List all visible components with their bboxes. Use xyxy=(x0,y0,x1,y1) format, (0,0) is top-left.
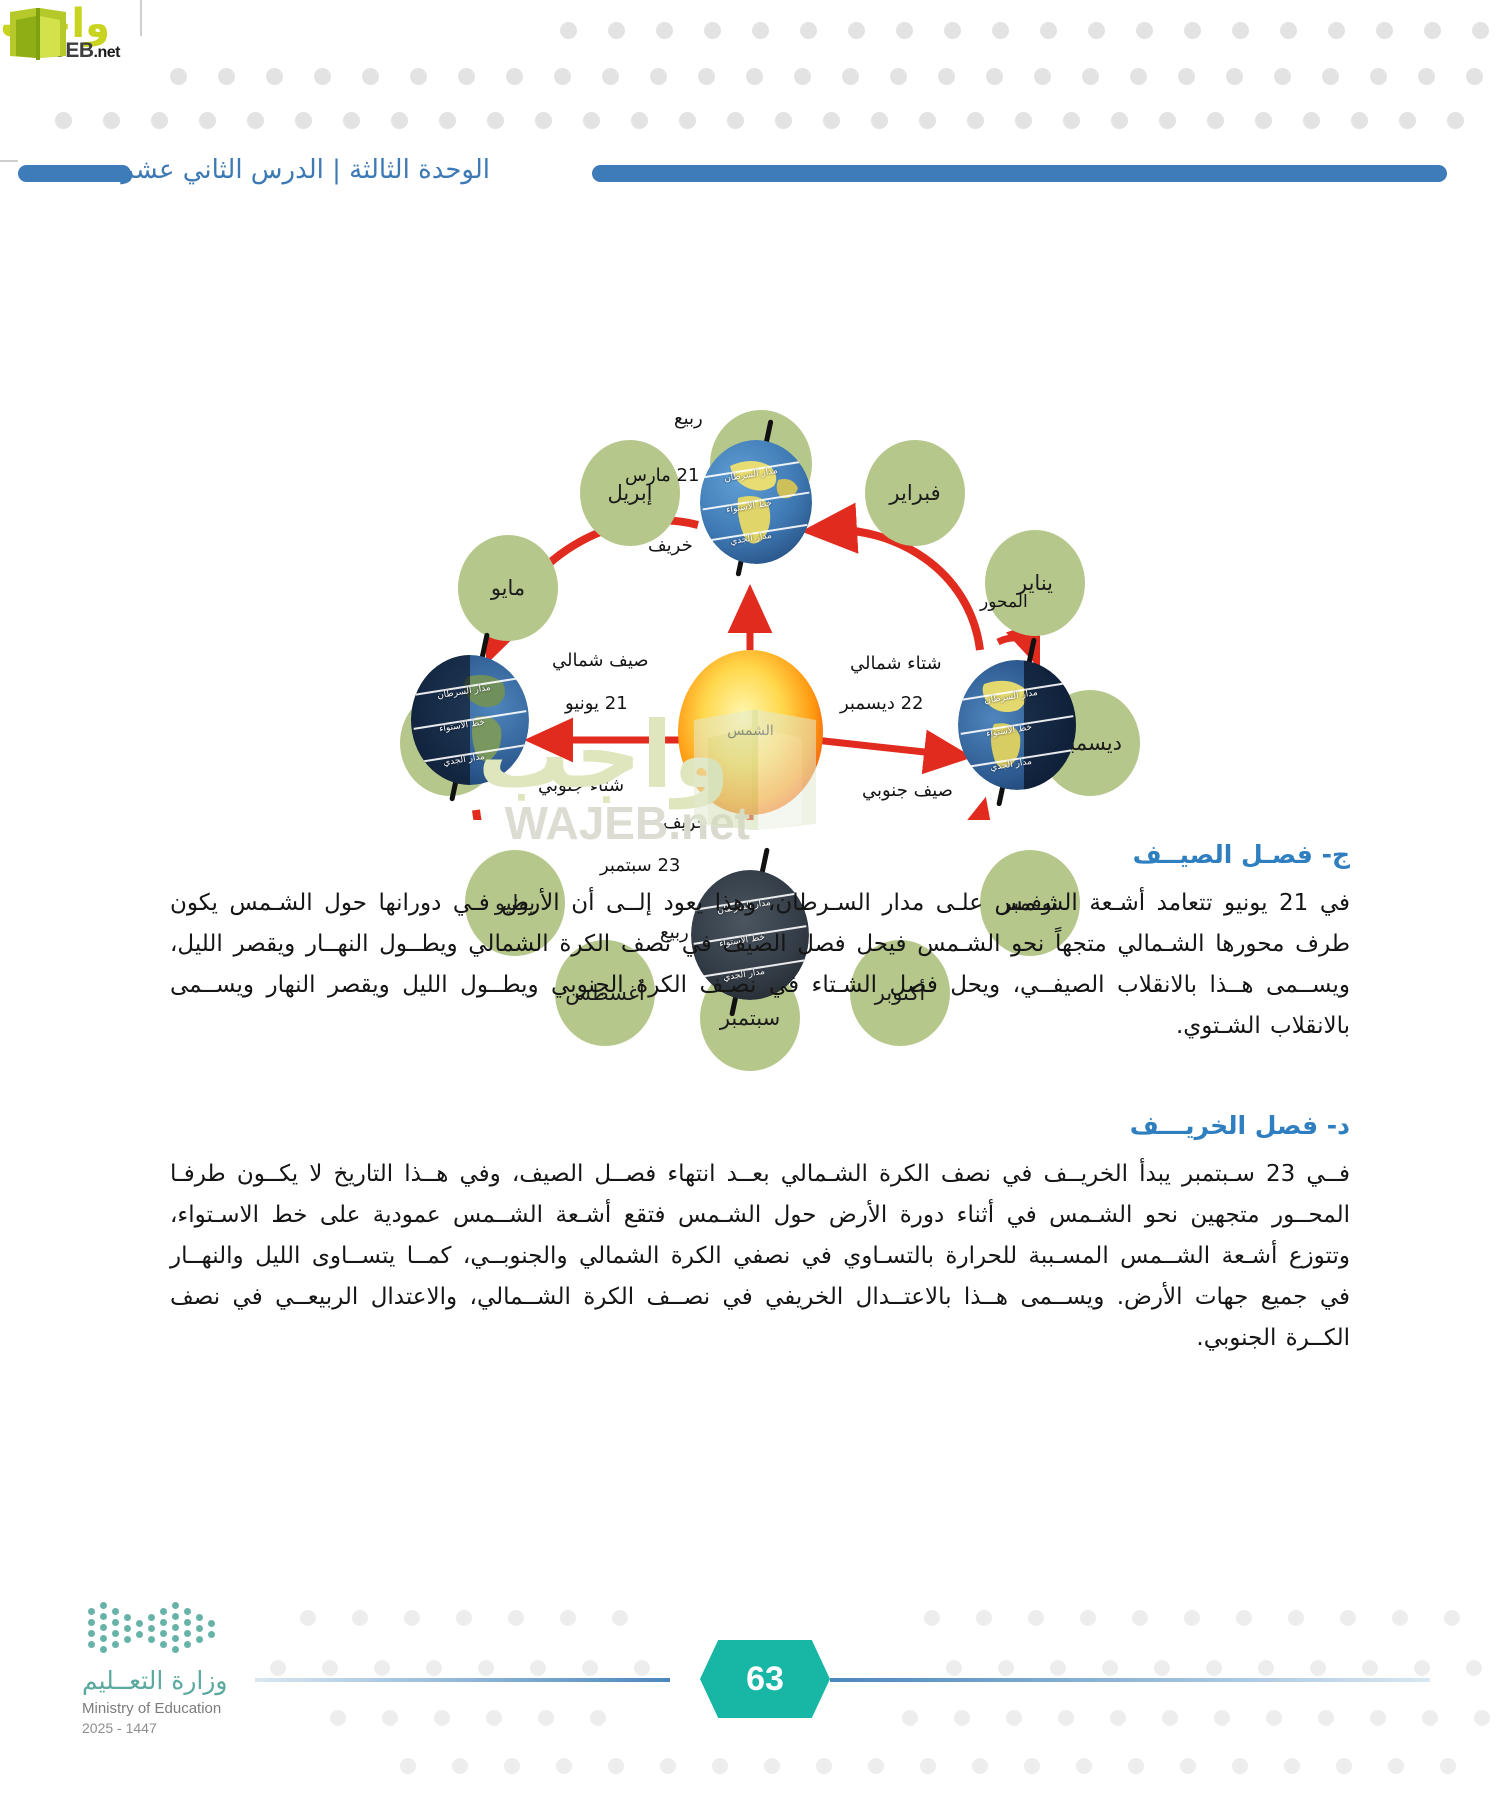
night-shadow xyxy=(1024,660,1076,790)
ministry-name-arabic: وزارة التعــليم xyxy=(82,1666,227,1695)
decorative-dot xyxy=(560,1610,576,1626)
decorative-dot xyxy=(160,1641,167,1648)
decorative-dot xyxy=(1472,22,1489,39)
decorative-dot xyxy=(478,1660,494,1676)
decorative-dot xyxy=(1303,112,1320,129)
decorative-dot xyxy=(196,1625,203,1632)
label-north-summer-date: 21 يونيو xyxy=(565,693,628,714)
ministry-name-english: Ministry of Education xyxy=(82,1700,221,1717)
decorative-dot xyxy=(1088,22,1105,39)
decorative-dot xyxy=(842,68,859,85)
decorative-dot xyxy=(992,22,1009,39)
decorative-dot xyxy=(1206,1660,1222,1676)
decorative-dot xyxy=(752,22,769,39)
decorative-dot xyxy=(1076,1758,1092,1774)
decorative-dot xyxy=(612,1610,628,1626)
decorative-dot xyxy=(218,68,235,85)
decorative-dot xyxy=(1258,1660,1274,1676)
month-bubble-february: فبراير xyxy=(865,440,965,546)
decorative-dot xyxy=(944,22,961,39)
decorative-dot xyxy=(890,68,907,85)
decorative-dot xyxy=(1362,1660,1378,1676)
decorative-dot xyxy=(196,1614,203,1621)
decorative-dot xyxy=(1255,112,1272,129)
decorative-dot xyxy=(764,1758,780,1774)
decorative-dot xyxy=(1399,112,1416,129)
decorative-dot xyxy=(1288,1610,1304,1626)
wajeb-logo-tld: .net xyxy=(94,44,120,61)
ministry-years: 2025 - 1447 xyxy=(82,1720,157,1736)
decorative-dot xyxy=(954,1710,970,1726)
decorative-dot xyxy=(100,1624,107,1631)
decorative-dot xyxy=(124,1625,131,1632)
decorative-dot xyxy=(1132,1610,1148,1626)
decorative-dot xyxy=(404,1610,420,1626)
section-paragraph-autumn: فــي 23 سـبتمبر يبدأ الخريــف في نصف الك… xyxy=(170,1154,1350,1359)
decorative-dot xyxy=(148,1625,155,1632)
label-axis: المحور xyxy=(980,592,1028,612)
decorative-dot xyxy=(1180,1758,1196,1774)
decorative-dot xyxy=(1444,1610,1460,1626)
globe-group-june: مدار السرطان خط الاستواء مدار الجدي xyxy=(405,645,535,795)
page-footer: وزارة التعــليم Ministry of Education 20… xyxy=(0,1600,1500,1800)
decorative-dot xyxy=(634,1660,650,1676)
decorative-dot xyxy=(1080,1610,1096,1626)
decorative-dot xyxy=(88,1641,95,1648)
decorative-dot xyxy=(112,1630,119,1637)
decorative-dot xyxy=(184,1619,191,1626)
month-label: مايو xyxy=(491,576,525,600)
decorative-dot xyxy=(88,1608,95,1615)
decorative-dot xyxy=(172,1635,179,1642)
decorative-dot xyxy=(1058,1710,1074,1726)
decorative-dot xyxy=(538,1710,554,1726)
decorative-dot xyxy=(1050,1660,1066,1676)
decorative-dot xyxy=(967,112,984,129)
label-south-summer: صيف جنوبي xyxy=(862,780,953,801)
decorative-dot xyxy=(1110,1710,1126,1726)
label-north-summer: صيف شمالي xyxy=(552,650,649,671)
section-gap xyxy=(170,1077,1350,1111)
article-body: ج- فصـل الصيــف في 21 يونيو تتعامد أشـعة… xyxy=(170,840,1350,1389)
decorative-dot xyxy=(1266,1710,1282,1726)
section-heading-autumn: د- فصل الخريـــف xyxy=(170,1111,1350,1140)
decorative-dot xyxy=(172,1602,179,1609)
decorative-dot xyxy=(1376,22,1393,39)
decorative-dot xyxy=(868,1758,884,1774)
decorative-dot xyxy=(1130,68,1147,85)
decorative-dot xyxy=(938,68,955,85)
decorative-dot xyxy=(124,1614,131,1621)
decorative-dot xyxy=(486,1710,502,1726)
decorative-dot xyxy=(148,1636,155,1643)
decorative-dot xyxy=(247,112,264,129)
decorative-dot xyxy=(560,22,577,39)
month-label: فبراير xyxy=(889,481,940,505)
breadcrumb-bar-long xyxy=(592,165,1447,182)
decorative-dot xyxy=(1280,22,1297,39)
decorative-dot xyxy=(148,1614,155,1621)
decorative-dot xyxy=(660,1758,676,1774)
globe-group-december: مدار السرطان خط الاستواء مدار الجدي xyxy=(952,650,1082,800)
sun-graphic: الشمس xyxy=(678,650,823,815)
decorative-dot xyxy=(1232,1758,1248,1774)
wajeb-logo: واجب WAJEB.net xyxy=(8,4,168,66)
decorative-dot xyxy=(374,1660,390,1676)
decorative-dot xyxy=(1414,1660,1430,1676)
decorative-dot xyxy=(382,1710,398,1726)
decorative-dot xyxy=(352,1610,368,1626)
decorative-dot xyxy=(208,1631,215,1638)
breadcrumb-row: الوحدة الثالثة | الدرس الثاني عشر xyxy=(0,155,1500,195)
decorative-dot xyxy=(919,112,936,129)
decorative-dot xyxy=(1063,112,1080,129)
decorative-dot xyxy=(608,1758,624,1774)
decorative-dot xyxy=(871,112,888,129)
decorative-dot xyxy=(1015,112,1032,129)
decorative-dot xyxy=(1024,1758,1040,1774)
decorative-dot xyxy=(590,1710,606,1726)
decorative-dot xyxy=(1370,1710,1386,1726)
month-bubble-may: مايو xyxy=(458,535,558,641)
decorative-dot xyxy=(172,1646,179,1653)
decorative-dot xyxy=(100,1602,107,1609)
decorative-dot xyxy=(196,1636,203,1643)
decorative-dot xyxy=(1274,68,1291,85)
seasons-diagram: مارس فبراير يناير ديسمبر نوفمبر أكتوبر س… xyxy=(280,250,1040,820)
decorative-dot xyxy=(504,1758,520,1774)
decorative-dot xyxy=(848,22,865,39)
label-spring-top-date: 21 مارس xyxy=(625,465,699,486)
decorative-dot xyxy=(456,1610,472,1626)
decorative-dot xyxy=(1388,1758,1404,1774)
decorative-dot xyxy=(199,112,216,129)
decorative-dot xyxy=(608,22,625,39)
decorative-dot xyxy=(1154,1660,1170,1676)
decorative-dot xyxy=(704,22,721,39)
decorative-dot xyxy=(582,1660,598,1676)
decorative-dot xyxy=(1422,1710,1438,1726)
dot-pattern xyxy=(0,0,1500,150)
header-decoration-band xyxy=(0,0,1500,150)
decorative-dot xyxy=(556,1758,572,1774)
decorative-dot xyxy=(400,1758,416,1774)
decorative-dot xyxy=(554,68,571,85)
decorative-dot xyxy=(506,68,523,85)
decorative-dot xyxy=(136,1620,143,1627)
earth-globe-june: مدار السرطان خط الاستواء مدار الجدي xyxy=(411,655,529,785)
decorative-dot xyxy=(1111,112,1128,129)
decorative-dot xyxy=(88,1619,95,1626)
decorative-dot xyxy=(184,1630,191,1637)
decorative-dot xyxy=(1236,1610,1252,1626)
decorative-dot xyxy=(1159,112,1176,129)
decorative-dot xyxy=(946,1660,962,1676)
decorative-dot xyxy=(976,1610,992,1626)
decorative-dot xyxy=(208,1620,215,1627)
label-autumn-top: خريف xyxy=(648,535,693,556)
decorative-dot xyxy=(410,68,427,85)
decorative-dot xyxy=(1440,1758,1456,1774)
decorative-dot xyxy=(535,112,552,129)
decorative-dot xyxy=(1102,1660,1118,1676)
decorative-dot xyxy=(103,112,120,129)
earth-globe-march: مدار السرطان خط الاستواء مدار الجدي xyxy=(700,440,812,564)
decorative-dot xyxy=(1447,112,1464,129)
decorative-dot xyxy=(1082,68,1099,85)
decorative-dot xyxy=(712,1758,728,1774)
decorative-dot xyxy=(343,112,360,129)
label-north-winter-date: 22 ديسمبر xyxy=(840,693,923,714)
decorative-dot xyxy=(100,1635,107,1642)
label-spring-top: ربيع xyxy=(674,408,703,429)
decorative-dot xyxy=(775,112,792,129)
decorative-dot xyxy=(170,68,187,85)
earth-globe-december: مدار السرطان خط الاستواء مدار الجدي xyxy=(958,660,1076,790)
decorative-dot xyxy=(986,68,1003,85)
decorative-dot xyxy=(314,68,331,85)
decorative-dot xyxy=(330,1710,346,1726)
decorative-dot xyxy=(1310,1660,1326,1676)
decorative-dot xyxy=(1466,68,1483,85)
decorative-dot xyxy=(1028,1610,1044,1626)
decorative-dot xyxy=(920,1758,936,1774)
decorative-dot xyxy=(100,1646,107,1653)
footer-rule-right xyxy=(830,1678,1430,1682)
decorative-dot xyxy=(434,1710,450,1726)
decorative-dot xyxy=(823,112,840,129)
decorative-dot xyxy=(1184,1610,1200,1626)
decorative-dot xyxy=(1392,1610,1408,1626)
decorative-dot xyxy=(631,112,648,129)
breadcrumb: الوحدة الثالثة | الدرس الثاني عشر xyxy=(121,155,490,185)
decorative-dot xyxy=(452,1758,468,1774)
decorative-dot xyxy=(151,112,168,129)
decorative-dot xyxy=(1318,1710,1334,1726)
decorative-dot xyxy=(439,112,456,129)
decorative-dot xyxy=(1322,68,1339,85)
decorative-dot xyxy=(902,1710,918,1726)
decorative-dot xyxy=(1214,1710,1230,1726)
month-bubble-april: إبريل xyxy=(580,440,680,546)
decorative-dot xyxy=(112,1619,119,1626)
sun-label: الشمس xyxy=(678,723,823,739)
decorative-dot xyxy=(1418,68,1435,85)
decorative-dot xyxy=(1370,68,1387,85)
decorative-dot xyxy=(998,1660,1014,1676)
decorative-dot xyxy=(426,1660,442,1676)
decorative-dot xyxy=(266,68,283,85)
decorative-dot xyxy=(172,1624,179,1631)
decorative-dot xyxy=(746,68,763,85)
decorative-dot xyxy=(1184,22,1201,39)
decorative-dot xyxy=(160,1619,167,1626)
decorative-dot xyxy=(656,22,673,39)
decorative-dot xyxy=(896,22,913,39)
decorative-dot xyxy=(1040,22,1057,39)
decorative-dot xyxy=(124,1636,131,1643)
decorative-dot xyxy=(727,112,744,129)
decorative-dot xyxy=(184,1641,191,1648)
decorative-dot xyxy=(136,1631,143,1638)
decorative-dot xyxy=(794,68,811,85)
decorative-dot xyxy=(698,68,715,85)
decorative-dot xyxy=(1466,1660,1482,1676)
decorative-dot xyxy=(112,1641,119,1648)
decorative-dot xyxy=(1207,112,1224,129)
section-paragraph-summer: في 21 يونيو تتعامد أشـعة الشـمس علـى مدا… xyxy=(170,883,1350,1047)
decorative-dot xyxy=(88,1630,95,1637)
decorative-dot xyxy=(508,1610,524,1626)
decorative-dot xyxy=(1340,1610,1356,1626)
decorative-dot xyxy=(530,1660,546,1676)
decorative-dot xyxy=(1232,22,1249,39)
decorative-dot xyxy=(172,1613,179,1620)
month-bubble-january: يناير xyxy=(985,530,1085,636)
decorative-dot xyxy=(1162,1710,1178,1726)
decorative-dot xyxy=(1284,1758,1300,1774)
decorative-dot xyxy=(1351,112,1368,129)
decorative-dot xyxy=(650,68,667,85)
ministry-logo-dot-mark xyxy=(88,1600,268,1660)
decorative-dot xyxy=(1336,1758,1352,1774)
decorative-dot xyxy=(1424,22,1441,39)
decorative-dot xyxy=(816,1758,832,1774)
decorative-dot xyxy=(100,1613,107,1620)
decorative-dot xyxy=(362,68,379,85)
decorative-dot xyxy=(1006,1710,1022,1726)
decorative-dot xyxy=(679,112,696,129)
decorative-dot xyxy=(458,68,475,85)
decorative-dot xyxy=(800,22,817,39)
decorative-dot xyxy=(924,1610,940,1626)
decorative-dot xyxy=(583,112,600,129)
decorative-dot xyxy=(55,112,72,129)
label-south-winter: شتاء جنوبي xyxy=(538,775,624,796)
decorative-dot xyxy=(160,1608,167,1615)
page-number-badge: 63 xyxy=(700,1640,830,1718)
open-book-icon xyxy=(8,6,68,64)
decorative-dot xyxy=(1226,68,1243,85)
globe-group-march: مدار السرطان خط الاستواء مدار الجدي xyxy=(695,430,815,570)
decorative-dot xyxy=(1474,1710,1490,1726)
decorative-dot xyxy=(602,68,619,85)
footer-rule-left xyxy=(255,1678,670,1682)
decorative-dot xyxy=(391,112,408,129)
label-north-winter: شتاء شمالي xyxy=(850,653,942,674)
decorative-dot xyxy=(295,112,312,129)
decorative-dot xyxy=(160,1630,167,1637)
label-autumn-bottom: خريف xyxy=(663,812,708,833)
decorative-dot xyxy=(184,1608,191,1615)
decorative-dot xyxy=(1328,22,1345,39)
section-heading-summer: ج- فصـل الصيــف xyxy=(170,840,1350,869)
decorative-dot xyxy=(1128,1758,1144,1774)
breadcrumb-bar-short xyxy=(18,165,131,182)
decorative-dot xyxy=(972,1758,988,1774)
decorative-dot xyxy=(112,1608,119,1615)
decorative-dot xyxy=(1178,68,1195,85)
decorative-dot xyxy=(1136,22,1153,39)
decorative-dot xyxy=(1034,68,1051,85)
decorative-dot xyxy=(487,112,504,129)
